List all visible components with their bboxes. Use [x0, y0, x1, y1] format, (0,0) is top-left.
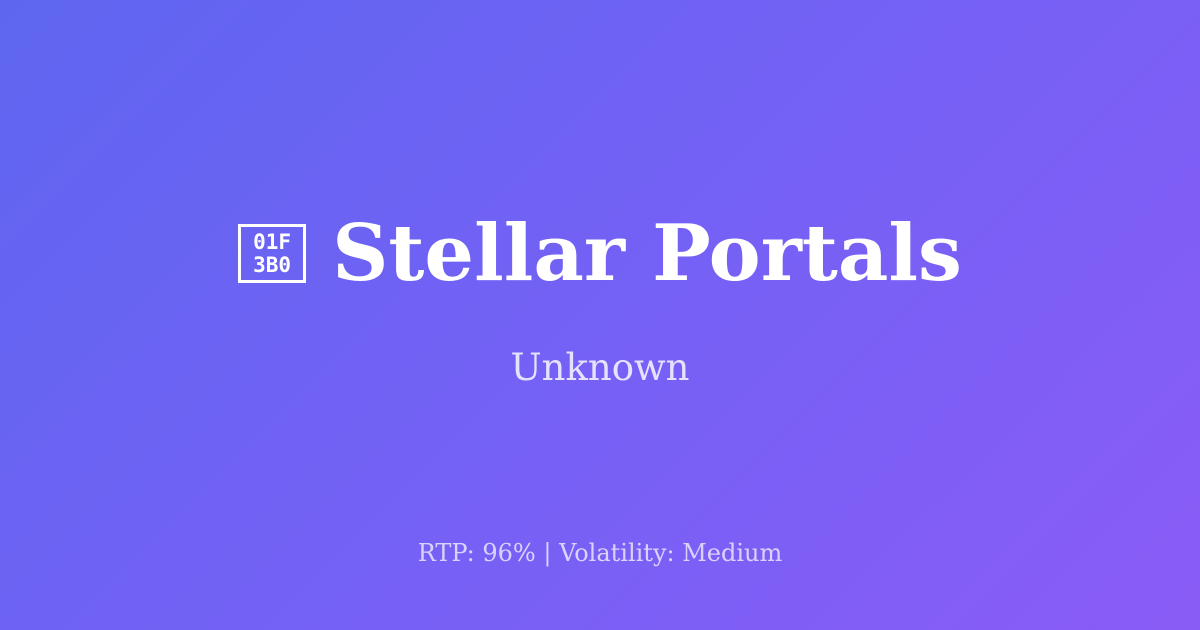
- game-stats-line: RTP: 96% | Volatility: Medium: [418, 539, 783, 567]
- footer: RTP: 96% | Volatility: Medium: [0, 539, 1200, 568]
- game-promo-card: { "theme": { "gradient_start": "#5e66f0"…: [0, 0, 1200, 630]
- slot-machine-icon-codepoint-top: 01F: [253, 231, 291, 254]
- title-row: 01F 3B0 Stellar Portals: [238, 214, 962, 294]
- page-title: Stellar Portals: [332, 214, 962, 294]
- slot-machine-icon: 01F 3B0: [238, 224, 306, 283]
- provider-name: Unknown: [510, 346, 689, 390]
- hero-section: 01F 3B0 Stellar Portals Unknown: [0, 0, 1200, 630]
- slot-machine-icon-codepoint-bottom: 3B0: [253, 254, 291, 277]
